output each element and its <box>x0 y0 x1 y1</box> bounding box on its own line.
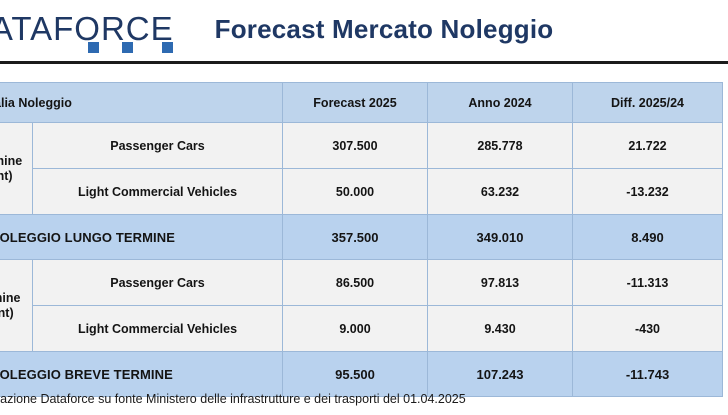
row-segment-label: Passenger Cars <box>33 123 283 169</box>
cell-forecast-2025: 9.000 <box>283 306 428 352</box>
table-row: Breve Termine(Short Rent) Passenger Cars… <box>0 260 723 306</box>
column-header-anno-2024: Anno 2024 <box>428 83 573 123</box>
total-label-lungo-termine: TOTALE NOLEGGIO LUNGO TERMINE <box>0 215 283 260</box>
cell-diff: -430 <box>573 306 723 352</box>
cell-anno-2024: 63.232 <box>428 169 573 215</box>
cell-anno-2024: 285.778 <box>428 123 573 169</box>
cell-diff: -11.313 <box>573 260 723 306</box>
column-header-diff: Diff. 2025/24 <box>573 83 723 123</box>
group-label-line: Breve Termine(Short Rent) <box>0 291 20 320</box>
table-row: Light Commercial Vehicles 9.000 9.430 -4… <box>0 306 723 352</box>
page-title: Forecast Mercato Noleggio <box>0 14 728 45</box>
cell-diff: -13.232 <box>573 169 723 215</box>
cell-anno-2024: 97.813 <box>428 260 573 306</box>
row-group-label-breve-termine: Breve Termine(Short Rent) <box>0 260 33 352</box>
total-label-breve-termine: TOTALE NOLEGGIO BREVE TERMINE <box>0 352 283 397</box>
cell-forecast-2025: 50.000 <box>283 169 428 215</box>
cell-diff: 8.490 <box>573 215 723 260</box>
cell-anno-2024: 107.243 <box>428 352 573 397</box>
cell-forecast-2025: 95.500 <box>283 352 428 397</box>
title-bar: DATAFORCE Forecast Mercato Noleggio <box>0 0 728 64</box>
source-footnote: Elaborazione Dataforce su fonte Minister… <box>0 392 466 406</box>
column-header-segment: Mercato Italia Noleggio <box>0 83 283 123</box>
forecast-table: Mercato Italia Noleggio Forecast 2025 An… <box>0 82 723 397</box>
cell-diff: -11.743 <box>573 352 723 397</box>
row-segment-label: Passenger Cars <box>33 260 283 306</box>
table-total-row: TOTALE NOLEGGIO LUNGO TERMINE 357.500 34… <box>0 215 723 260</box>
cell-forecast-2025: 307.500 <box>283 123 428 169</box>
table-body: Lungo Termine(Long Rent) Passenger Cars … <box>0 123 723 397</box>
group-label-line: Lungo Termine(Long Rent) <box>0 154 22 183</box>
cell-anno-2024: 9.430 <box>428 306 573 352</box>
cell-forecast-2025: 86.500 <box>283 260 428 306</box>
table-header-row: Mercato Italia Noleggio Forecast 2025 An… <box>0 83 723 123</box>
table-total-row: TOTALE NOLEGGIO BREVE TERMINE 95.500 107… <box>0 352 723 397</box>
column-header-forecast-2025: Forecast 2025 <box>283 83 428 123</box>
cell-anno-2024: 349.010 <box>428 215 573 260</box>
row-segment-label: Light Commercial Vehicles <box>33 306 283 352</box>
table-row: Lungo Termine(Long Rent) Passenger Cars … <box>0 123 723 169</box>
cell-forecast-2025: 357.500 <box>283 215 428 260</box>
forecast-table-container: Mercato Italia Noleggio Forecast 2025 An… <box>0 82 722 397</box>
table-row: Light Commercial Vehicles 50.000 63.232 … <box>0 169 723 215</box>
cell-diff: 21.722 <box>573 123 723 169</box>
row-segment-label: Light Commercial Vehicles <box>33 169 283 215</box>
table-header: Mercato Italia Noleggio Forecast 2025 An… <box>0 83 723 123</box>
row-group-label-lungo-termine: Lungo Termine(Long Rent) <box>0 123 33 215</box>
